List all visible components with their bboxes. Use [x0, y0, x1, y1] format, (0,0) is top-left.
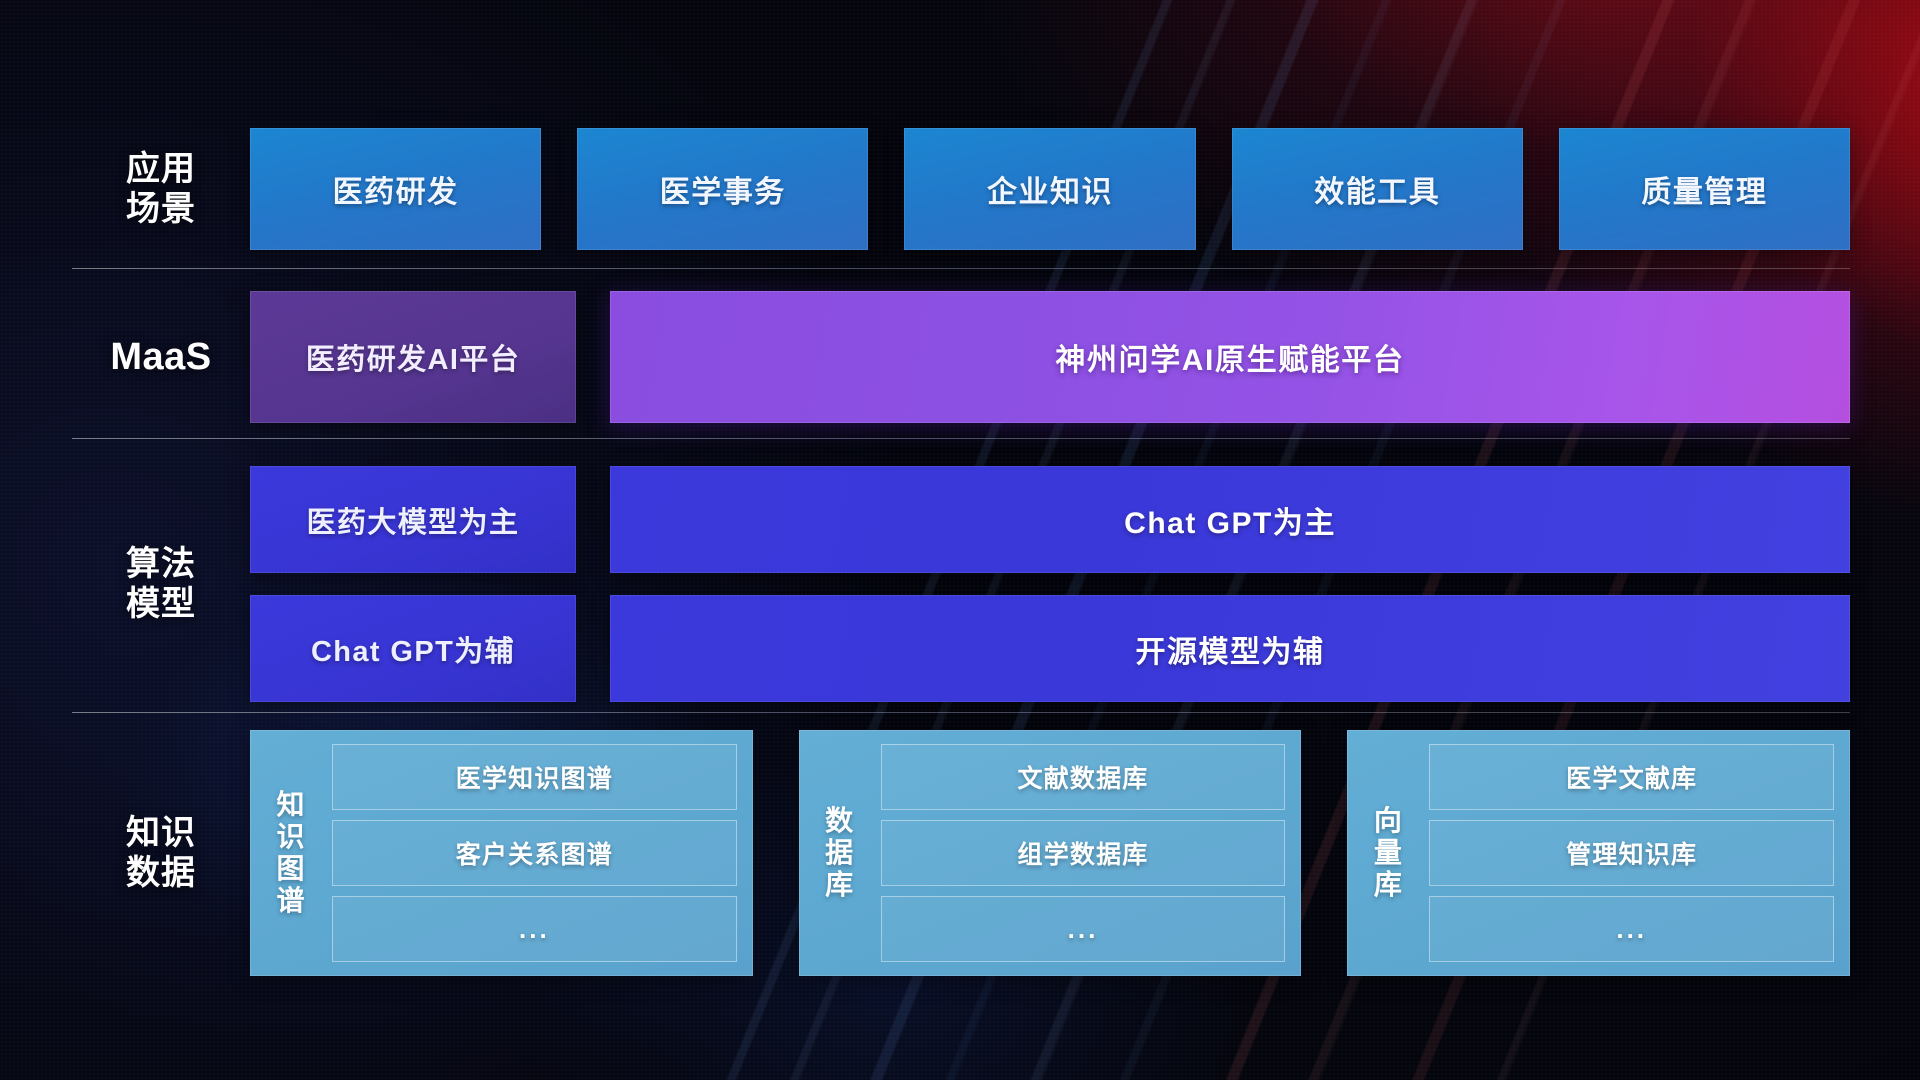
- algorithm-card-opensource-secondary[interactable]: 开源模型为辅: [610, 595, 1850, 702]
- application-card-list: 医药研发 医学事务 企业知识 效能工具 质量管理: [250, 128, 1850, 250]
- row-knowledge-data: 知识 数据 知 识 图 谱 医学知识图谱 客户关系图谱 ...: [72, 730, 1850, 976]
- application-card-label: 效能工具: [1314, 167, 1440, 211]
- knowledge-item-label: 组学数据库: [1018, 835, 1149, 871]
- knowledge-group-knowledge-graph[interactable]: 知 识 图 谱 医学知识图谱 客户关系图谱 ...: [250, 730, 753, 976]
- knowledge-item-list: 文献数据库 组学数据库 ...: [881, 744, 1286, 962]
- algorithm-card-pharma-llm-primary[interactable]: 医药大模型为主: [250, 466, 576, 573]
- application-card-drug-rd[interactable]: 医药研发: [250, 128, 541, 250]
- knowledge-item-label: 文献数据库: [1018, 759, 1149, 795]
- knowledge-item-more[interactable]: ...: [332, 896, 737, 962]
- application-card-enterprise-knowledge[interactable]: 企业知识: [904, 128, 1195, 250]
- knowledge-item-label: ...: [1616, 914, 1647, 945]
- knowledge-item-list: 医学文献库 管理知识库 ...: [1429, 744, 1834, 962]
- knowledge-item-medical-literature-store[interactable]: 医学文献库: [1429, 744, 1834, 810]
- algorithm-card-label: 开源模型为辅: [1136, 627, 1325, 671]
- row-label-algorithm-model: 算法 模型: [72, 544, 250, 624]
- knowledge-group-vector-store[interactable]: 向 量 库 医学文献库 管理知识库 ...: [1347, 730, 1850, 976]
- architecture-diagram: 应用 场景 医药研发 医学事务 企业知识 效能工具 质量管理: [0, 0, 1920, 1080]
- knowledge-item-label: ...: [519, 914, 550, 945]
- algorithm-line-primary: 医药大模型为主 Chat GPT为主: [250, 466, 1850, 573]
- divider-applications-maas: [72, 268, 1850, 269]
- application-card-label: 质量管理: [1641, 167, 1767, 211]
- row-application-scenarios: 应用 场景 医药研发 医学事务 企业知识 效能工具 质量管理: [72, 128, 1850, 250]
- divider-algorithm-knowledge: [72, 712, 1850, 713]
- algorithm-card-label: Chat GPT为主: [1124, 498, 1336, 542]
- knowledge-item-more[interactable]: ...: [1429, 896, 1834, 962]
- knowledge-group-list: 知 识 图 谱 医学知识图谱 客户关系图谱 ... 数 据: [250, 730, 1850, 976]
- knowledge-item-omics-database[interactable]: 组学数据库: [881, 820, 1286, 886]
- knowledge-group-title: 向 量 库: [1357, 744, 1419, 962]
- knowledge-item-label: 客户关系图谱: [456, 835, 613, 871]
- maas-card-drug-rd-platform[interactable]: 医药研发AI平台: [250, 291, 576, 423]
- algorithm-card-label: 医药大模型为主: [307, 499, 520, 541]
- application-card-label: 医学事务: [660, 167, 786, 211]
- knowledge-item-literature-database[interactable]: 文献数据库: [881, 744, 1286, 810]
- maas-card-label: 神州问学AI原生赋能平台: [1055, 335, 1404, 379]
- divider-maas-algorithm: [72, 438, 1850, 439]
- application-card-medical-affairs[interactable]: 医学事务: [577, 128, 868, 250]
- row-algorithm-model: 算法 模型 医药大模型为主 Chat GPT为主 Chat GPT为辅 开源模型…: [72, 466, 1850, 702]
- algorithm-card-chatgpt-primary[interactable]: Chat GPT为主: [610, 466, 1850, 573]
- knowledge-item-more[interactable]: ...: [881, 896, 1286, 962]
- knowledge-item-label: 管理知识库: [1566, 835, 1697, 871]
- slide-canvas: 应用 场景 医药研发 医学事务 企业知识 效能工具 质量管理: [0, 0, 1920, 1080]
- application-card-efficiency-tools[interactable]: 效能工具: [1232, 128, 1523, 250]
- algorithm-card-list: 医药大模型为主 Chat GPT为主 Chat GPT为辅 开源模型为辅: [250, 466, 1850, 702]
- algorithm-line-secondary: Chat GPT为辅 开源模型为辅: [250, 595, 1850, 702]
- maas-card-shenzhou-wenxue-platform[interactable]: 神州问学AI原生赋能平台: [610, 291, 1850, 423]
- knowledge-item-label: ...: [1068, 914, 1099, 945]
- knowledge-group-database[interactable]: 数 据 库 文献数据库 组学数据库 ...: [799, 730, 1302, 976]
- row-label-knowledge-data: 知识 数据: [72, 813, 250, 893]
- knowledge-item-label: 医学文献库: [1566, 759, 1697, 795]
- row-maas: MaaS 医药研发AI平台 神州问学AI原生赋能平台: [72, 291, 1850, 423]
- knowledge-item-list: 医学知识图谱 客户关系图谱 ...: [332, 744, 737, 962]
- application-card-label: 企业知识: [987, 167, 1113, 211]
- knowledge-group-title: 知 识 图 谱: [260, 744, 322, 962]
- knowledge-item-management-knowledge-store[interactable]: 管理知识库: [1429, 820, 1834, 886]
- maas-card-label: 医药研发AI平台: [306, 336, 520, 378]
- knowledge-item-customer-relation-graph[interactable]: 客户关系图谱: [332, 820, 737, 886]
- knowledge-item-medical-knowledge-graph[interactable]: 医学知识图谱: [332, 744, 737, 810]
- algorithm-card-label: Chat GPT为辅: [311, 628, 515, 670]
- application-card-quality-management[interactable]: 质量管理: [1559, 128, 1850, 250]
- algorithm-card-chatgpt-secondary[interactable]: Chat GPT为辅: [250, 595, 576, 702]
- knowledge-group-title: 数 据 库: [809, 744, 871, 962]
- row-label-maas: MaaS: [72, 335, 250, 380]
- row-label-application-scenarios: 应用 场景: [72, 149, 250, 229]
- maas-card-list: 医药研发AI平台 神州问学AI原生赋能平台: [250, 291, 1850, 423]
- application-card-label: 医药研发: [333, 167, 459, 211]
- knowledge-item-label: 医学知识图谱: [456, 759, 613, 795]
